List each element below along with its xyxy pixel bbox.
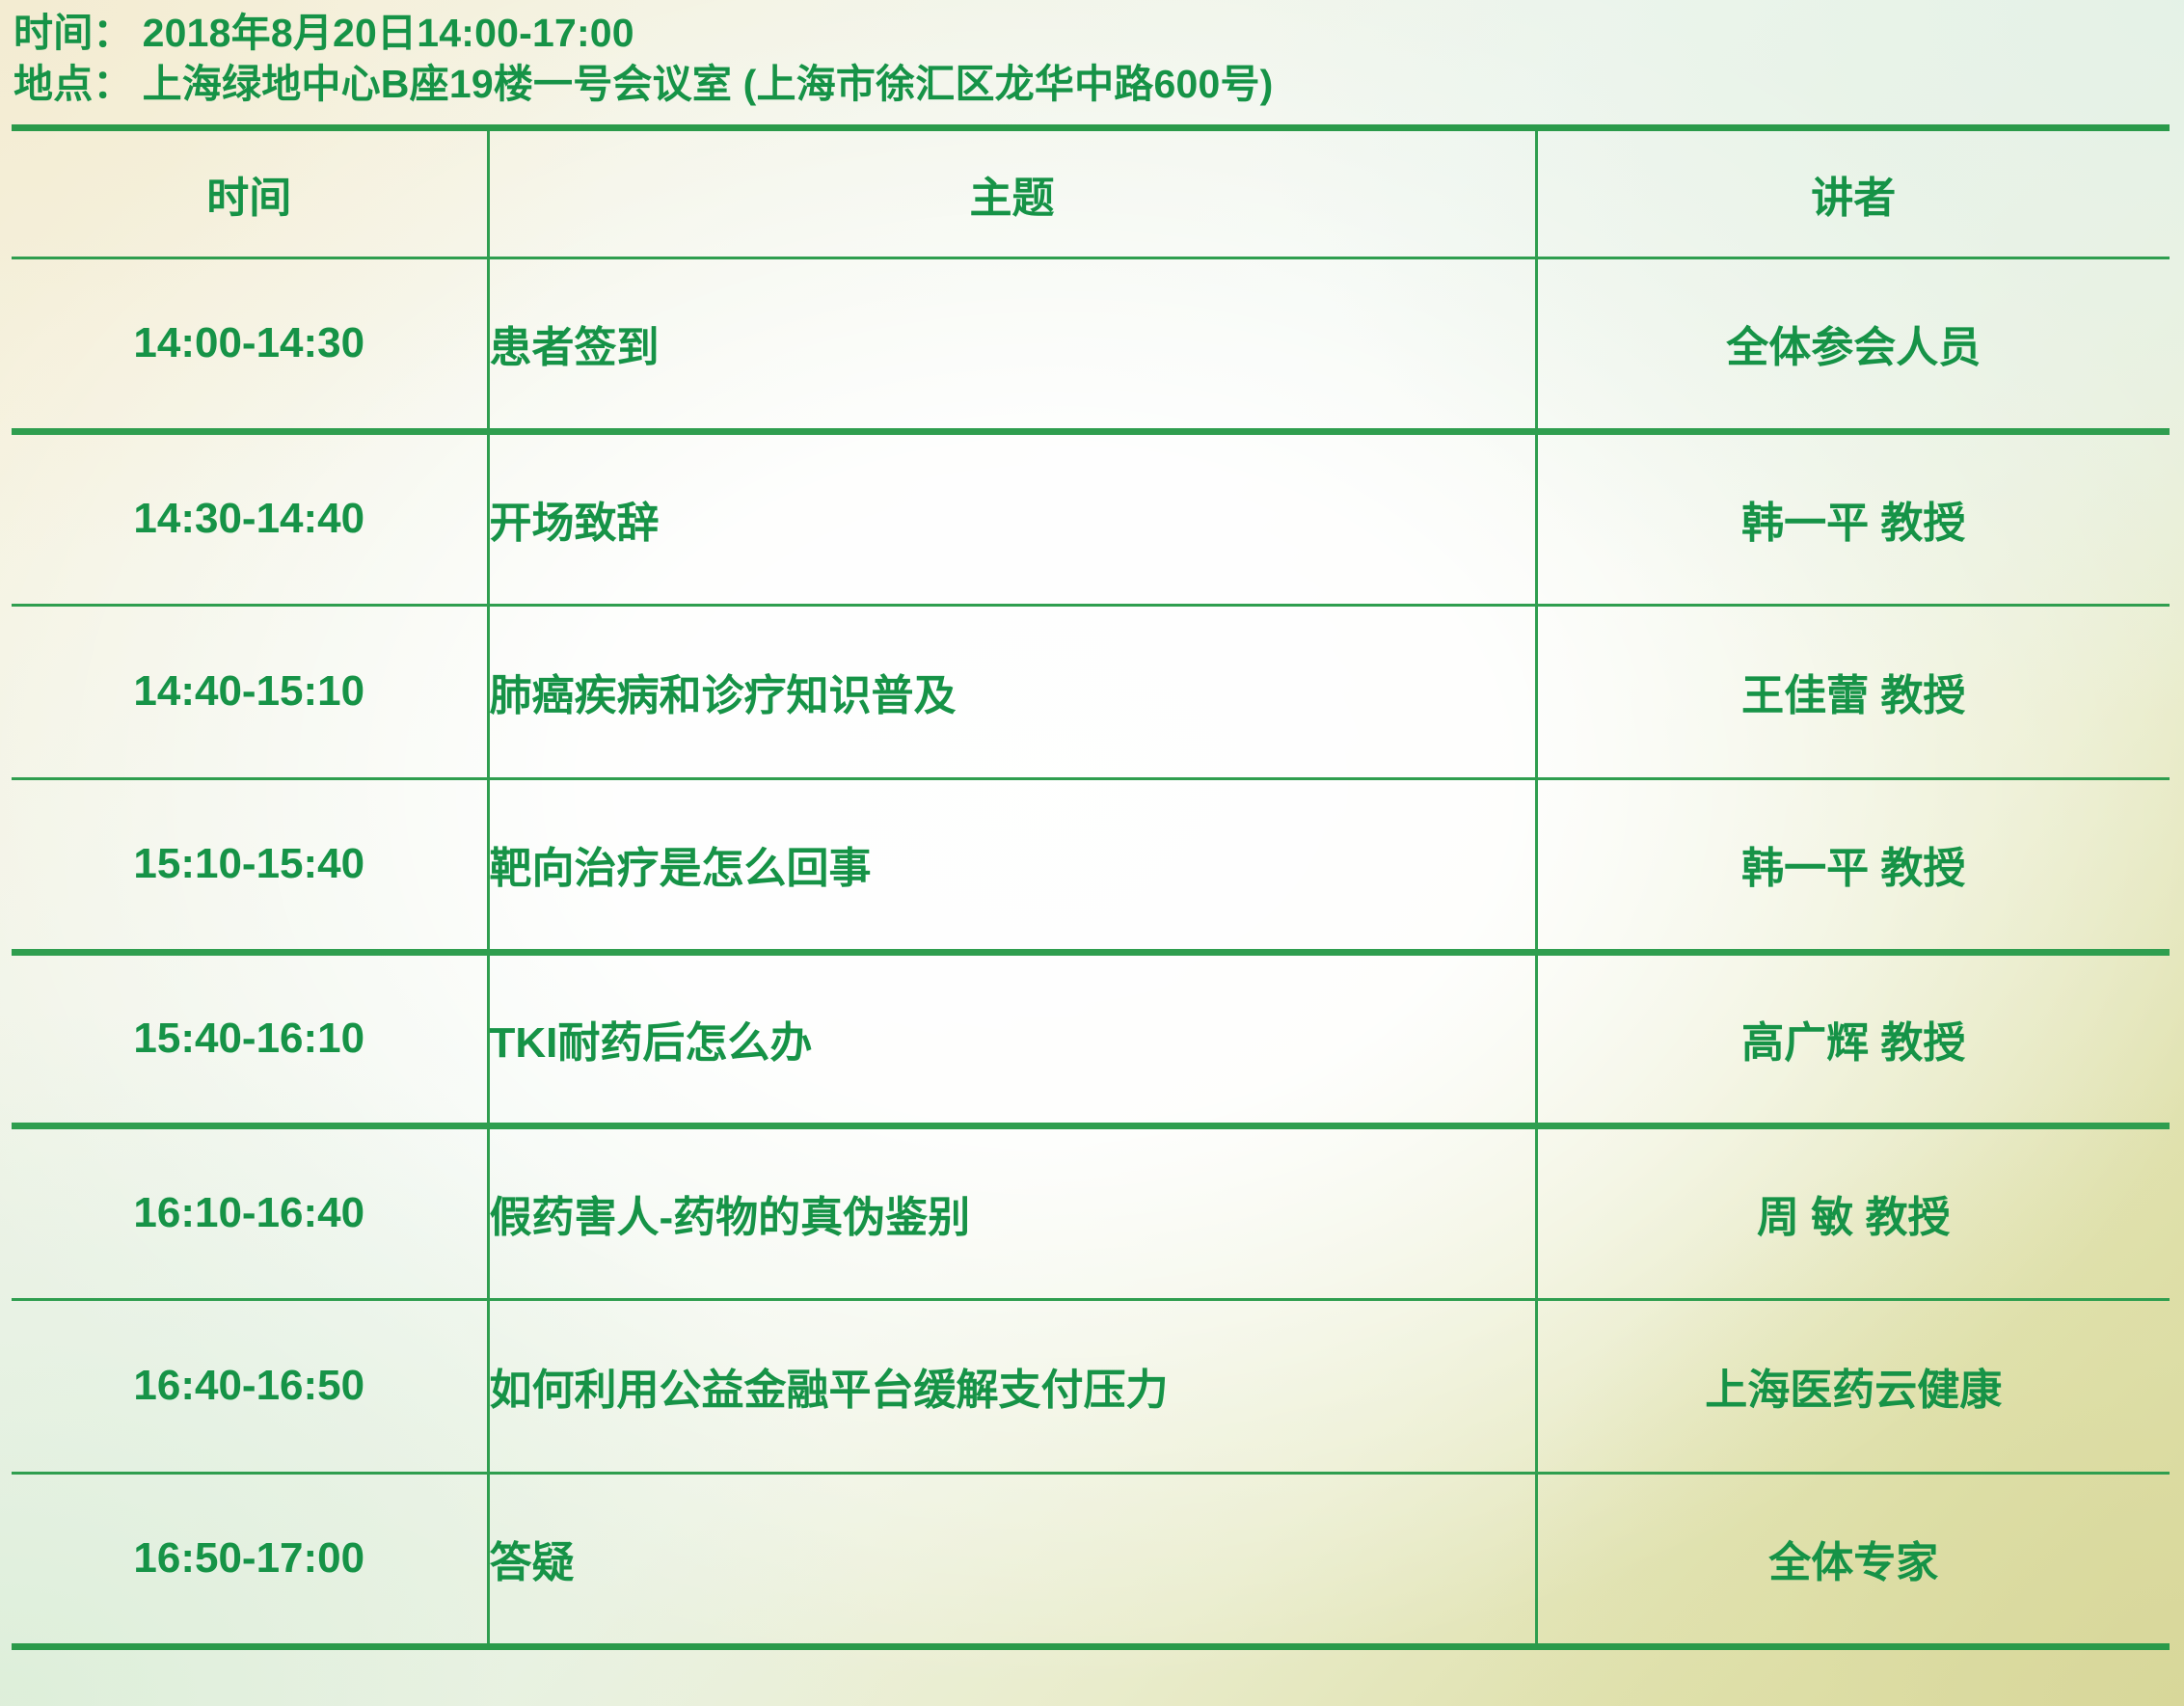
agenda-table-head: 时间 主题 讲者 <box>12 127 2170 257</box>
cell-speaker: 高广辉 教授 <box>1536 952 2170 1125</box>
cell-time: 16:50-17:00 <box>12 1473 488 1646</box>
cell-time: 15:10-15:40 <box>12 778 488 952</box>
event-time-line: 时间：2018年8月20日14:00-17:00 <box>13 8 2184 59</box>
column-header-topic: 主题 <box>488 127 1536 257</box>
cell-topic: 靶向治疗是怎么回事 <box>488 778 1536 952</box>
cell-speaker: 韩一平 教授 <box>1536 431 2170 605</box>
cell-time: 14:00-14:30 <box>12 257 488 431</box>
cell-time: 16:10-16:40 <box>12 1125 488 1299</box>
cell-topic: TKI耐药后怎么办 <box>488 952 1536 1125</box>
cell-time: 14:30-14:40 <box>12 431 488 605</box>
table-row: 16:10-16:40 假药害人-药物的真伪鉴别 周 敏 教授 <box>12 1125 2170 1299</box>
cell-speaker: 上海医药云健康 <box>1536 1299 2170 1473</box>
cell-topic: 答疑 <box>488 1473 1536 1646</box>
agenda-table-body: 14:00-14:30 患者签到 全体参会人员 14:30-14:40 开场致辞… <box>12 257 2170 1646</box>
table-row: 16:50-17:00 答疑 全体专家 <box>12 1473 2170 1646</box>
cell-speaker: 全体参会人员 <box>1536 257 2170 431</box>
table-row: 15:40-16:10 TKI耐药后怎么办 高广辉 教授 <box>12 952 2170 1125</box>
column-header-time: 时间 <box>12 127 488 257</box>
event-place-label: 地点： <box>13 62 133 106</box>
cell-time: 14:40-15:10 <box>12 605 488 778</box>
cell-speaker: 周 敏 教授 <box>1536 1125 2170 1299</box>
cell-topic: 开场致辞 <box>488 431 1536 605</box>
table-row: 14:00-14:30 患者签到 全体参会人员 <box>12 257 2170 431</box>
event-place-line: 地点：上海绿地中心B座19楼一号会议室 (上海市徐汇区龙华中路600号) <box>13 59 2184 110</box>
cell-time: 15:40-16:10 <box>12 952 488 1125</box>
event-time-value: 2018年8月20日14:00-17:00 <box>143 11 634 55</box>
table-row: 16:40-16:50 如何利用公益金融平台缓解支付压力 上海医药云健康 <box>12 1299 2170 1473</box>
column-header-speaker: 讲者 <box>1536 127 2170 257</box>
event-meta: 时间：2018年8月20日14:00-17:00 地点：上海绿地中心B座19楼一… <box>0 0 2184 111</box>
agenda-table: 时间 主题 讲者 14:00-14:30 患者签到 全体参会人员 14:30-1… <box>12 124 2170 1650</box>
cell-speaker: 全体专家 <box>1536 1473 2170 1646</box>
cell-topic: 患者签到 <box>488 257 1536 431</box>
event-place-value: 上海绿地中心B座19楼一号会议室 (上海市徐汇区龙华中路600号) <box>143 62 1274 106</box>
cell-topic: 肺癌疾病和诊疗知识普及 <box>488 605 1536 778</box>
table-row: 14:40-15:10 肺癌疾病和诊疗知识普及 王佳蕾 教授 <box>12 605 2170 778</box>
table-row: 14:30-14:40 开场致辞 韩一平 教授 <box>12 431 2170 605</box>
event-time-label: 时间： <box>13 11 133 55</box>
cell-time: 16:40-16:50 <box>12 1299 488 1473</box>
cell-topic: 假药害人-药物的真伪鉴别 <box>488 1125 1536 1299</box>
cell-speaker: 王佳蕾 教授 <box>1536 605 2170 778</box>
cell-speaker: 韩一平 教授 <box>1536 778 2170 952</box>
table-header-row: 时间 主题 讲者 <box>12 127 2170 257</box>
agenda-slide: 时间：2018年8月20日14:00-17:00 地点：上海绿地中心B座19楼一… <box>0 0 2184 1706</box>
table-row: 15:10-15:40 靶向治疗是怎么回事 韩一平 教授 <box>12 778 2170 952</box>
cell-topic: 如何利用公益金融平台缓解支付压力 <box>488 1299 1536 1473</box>
